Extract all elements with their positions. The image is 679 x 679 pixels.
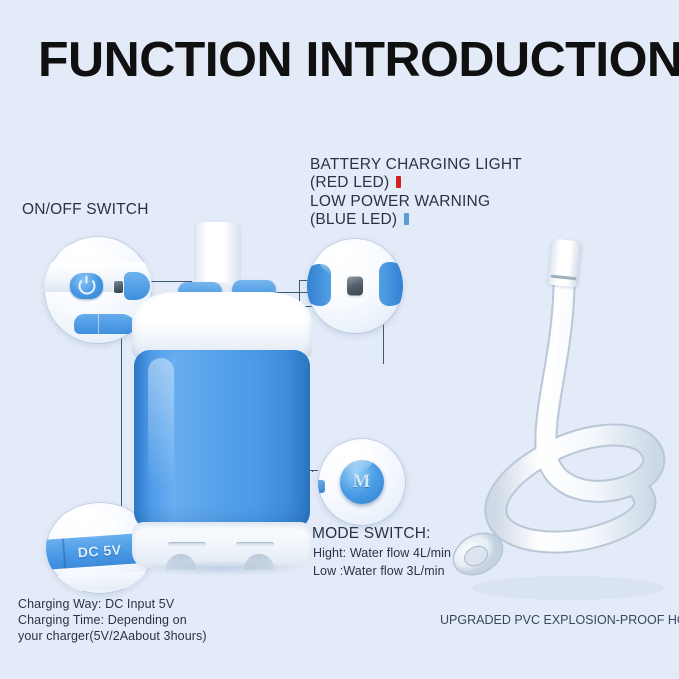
blue-led-sub-text: (BLUE LED) xyxy=(310,211,397,228)
power-button[interactable] xyxy=(70,273,103,299)
label-low-power-warning: LOW POWER WARNING xyxy=(310,192,490,211)
label-charging-way: Charging Way: DC Input 5V xyxy=(18,596,174,613)
led-indicator-icon xyxy=(114,281,123,293)
callout-led-indicator xyxy=(307,238,403,334)
label-hose-caption: UPGRADED PVC EXPLOSION-PROOF HOSE xyxy=(440,613,679,627)
label-charging-time-continued: your charger(5V/2Aabout 3hours) xyxy=(18,628,207,645)
product-water-tank xyxy=(134,350,310,530)
hose-svg xyxy=(436,236,676,608)
page-title: FUNCTION INTRODUCTION xyxy=(38,36,660,86)
water-outlet-spout xyxy=(196,222,240,288)
hose-tube-outline xyxy=(496,288,654,542)
label-mode-switch-high: Hight: Water flow 4L/min xyxy=(313,545,451,562)
power-symbol-icon xyxy=(78,278,95,295)
mode-button[interactable]: M xyxy=(340,460,384,504)
hose-tube xyxy=(496,288,654,542)
leader-line-dc-v xyxy=(121,311,122,525)
red-led-sub-text: (RED LED) xyxy=(310,174,389,191)
base-vent-left xyxy=(168,542,206,547)
hose-connector xyxy=(548,239,583,288)
label-battery-charging-light-sub: (RED LED) xyxy=(310,173,401,192)
infographic-canvas: FUNCTION INTRODUCTION ON/OFF SWITCH BATT… xyxy=(0,0,679,679)
dc-band-label: DC 5V xyxy=(78,541,123,560)
led-tab-right-shape xyxy=(379,262,403,306)
label-mode-switch-low: Low :Water flow 3L/min xyxy=(313,563,445,580)
product-shadow xyxy=(136,560,308,576)
mode-button-label: M xyxy=(353,471,372,493)
pvc-hose xyxy=(436,236,676,608)
label-low-power-warning-sub: (BLUE LED) xyxy=(310,210,409,229)
base-vent-right xyxy=(236,542,274,547)
label-battery-charging-light: BATTERY CHARGING LIGHT xyxy=(310,155,522,174)
red-led-swatch-icon xyxy=(396,176,401,188)
callout-mode-switch: M xyxy=(318,438,406,526)
label-on-off-switch: ON/OFF SWITCH xyxy=(22,200,149,219)
blue-led-swatch-icon xyxy=(404,213,409,225)
led-window-icon xyxy=(347,277,363,296)
label-mode-switch-title: MODE SWITCH: xyxy=(312,524,431,543)
product-portable-shower xyxy=(124,222,320,582)
hose-reflection xyxy=(472,576,664,600)
label-charging-time: Charging Time: Depending on xyxy=(18,612,187,629)
